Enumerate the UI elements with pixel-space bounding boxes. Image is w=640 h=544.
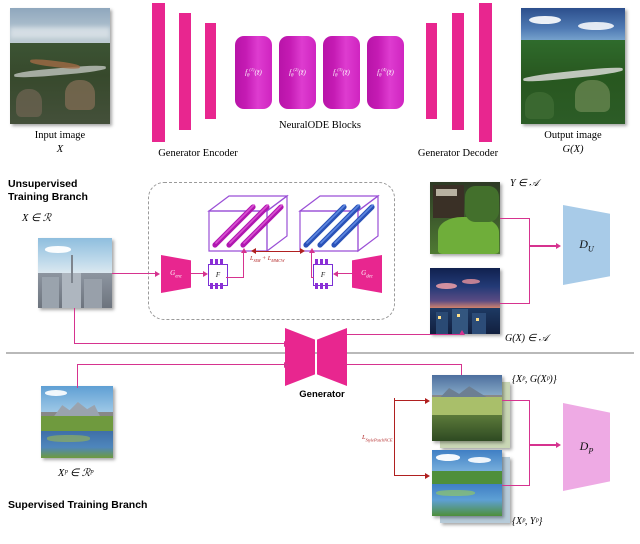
connector-generator-to-pair-h	[344, 364, 462, 365]
connector-supervised-input-h	[77, 364, 286, 365]
input-image-thumbnail	[10, 8, 110, 124]
connector-du-in	[529, 245, 557, 247]
unsupervised-feature-cube-source	[205, 193, 290, 258]
ode-block-4: fθ(4)(z̄)	[367, 36, 404, 109]
stylepatchnce-arm-top	[394, 400, 426, 401]
feature-stripe	[325, 283, 328, 289]
feature-stripe	[210, 283, 213, 289]
similarity-loss-connector	[255, 251, 300, 253]
stylepatchnce-loss-label: LStylePatchNCE	[362, 434, 393, 442]
unsupervised-discriminator-label: D	[579, 237, 588, 251]
connector-arrow-generated	[459, 330, 465, 335]
unsupervised-generated-symbol: G(X) ∈ 𝒜	[505, 333, 548, 344]
similarity-loss-arrow-right	[300, 248, 305, 254]
connector-pairreal-to-dp-h	[502, 485, 530, 486]
output-image-caption: Output image	[544, 130, 601, 141]
ode-block-2-formula: fθ(2)(z̄)	[289, 67, 306, 79]
decoder-caption: Generator Decoder	[418, 148, 498, 159]
unsupervised-discriminator: DU	[563, 205, 610, 285]
unsupervised-feature-box-right-label: F	[321, 271, 325, 279]
connector-arrow-feature-right	[333, 271, 338, 277]
unsupervised-decoder-label: G	[361, 269, 366, 277]
connector-source-down-v	[74, 308, 75, 344]
unsupervised-decoder-sub: dec	[366, 274, 373, 279]
similarity-loss-label: LSIM + LMMCW	[250, 255, 285, 263]
supervised-heading: Supervised Training Branch	[8, 499, 147, 511]
unsupervised-discriminator-sub: U	[588, 244, 594, 253]
connector-dp-in	[529, 444, 557, 446]
loss-mmcw-sub: MMCW	[271, 258, 284, 263]
feature-stripe	[215, 283, 218, 289]
supervised-pair-real-front	[432, 450, 502, 516]
connector-target-to-du-h	[500, 218, 530, 219]
connector-gen-to-du-h	[500, 303, 530, 304]
connector-feature-to-cube-h	[226, 277, 244, 278]
unsupervised-input-symbol: X ∈ ℛ	[22, 212, 51, 224]
supervised-discriminator-label: D	[580, 439, 589, 453]
unsupervised-encoder-trapezoid: Genc	[161, 255, 191, 293]
connector-source-to-generator-h	[74, 343, 286, 344]
connector-arrow-encoder	[155, 271, 160, 277]
unsupervised-generated-thumbnail	[430, 268, 500, 334]
ode-block-4-formula: fθ(4)(z̄)	[377, 67, 394, 79]
stylepatchnce-bracket-v	[394, 398, 395, 476]
connector-du-vertical	[529, 218, 530, 304]
feature-stripe	[315, 259, 318, 265]
feature-stripe	[220, 283, 223, 289]
connector-feature-to-cube-v	[243, 252, 244, 278]
connector-decoder-to-feature	[336, 273, 353, 274]
generator-block-left	[285, 328, 315, 386]
connector-dp-vertical	[529, 400, 530, 486]
feature-stripe	[315, 283, 318, 289]
connector-pairgen-to-dp-h	[502, 400, 530, 401]
connector-arrow-feature-left	[203, 271, 208, 277]
feature-stripe	[325, 259, 328, 265]
unsupervised-target-symbol: Y ∈ 𝒜	[510, 178, 539, 189]
ode-block-2: fθ(2)(z̄)	[279, 36, 316, 109]
supervised-pair-real-label: {Xᵖ, Yᵖ}	[512, 516, 542, 527]
loss-plus: +	[260, 255, 267, 262]
output-image-thumbnail	[521, 8, 625, 124]
stylepatchnce-sub: StylePatchNCE	[366, 437, 393, 442]
input-image-symbol: X	[57, 144, 63, 155]
decoder-bar-1	[426, 23, 437, 119]
feature-stripe	[320, 259, 323, 265]
generator-caption: Generator	[299, 389, 344, 400]
ode-block-1: fθ(1)(z̄)	[235, 36, 272, 109]
feature-stripe	[215, 259, 218, 265]
connector-arrow-cube-left	[241, 248, 247, 253]
generator-block-right	[317, 328, 347, 386]
connector-input-to-encoder	[112, 273, 156, 274]
connector-supervised-input-v	[77, 364, 78, 388]
decoder-bar-2	[452, 13, 464, 130]
encoder-bar-1	[152, 3, 165, 142]
connector-generator-out-h	[344, 334, 462, 335]
stylepatchnce-arrow-bottom	[425, 473, 430, 479]
ode-block-3-formula: fθ(3)(z̄)	[333, 67, 350, 79]
supervised-pair-generated-label: {Xᵖ, G(Xᵖ)}	[512, 374, 557, 385]
ode-blocks-caption: NeuralODE Blocks	[279, 120, 361, 131]
unsupervised-feature-box-left-label: F	[216, 271, 220, 279]
ode-block-3: fθ(3)(z̄)	[323, 36, 360, 109]
unsupervised-target-thumbnail	[430, 182, 500, 254]
encoder-bar-2	[179, 13, 191, 130]
figure-canvas: Input image X Generator Encoder fθ(1)(z̄…	[0, 0, 640, 544]
supervised-input-thumbnail	[41, 386, 113, 458]
connector-arrow-generator-bottom	[284, 362, 289, 368]
feature-stripe	[210, 259, 213, 265]
encoder-bar-3	[205, 23, 216, 119]
unsupervised-encoder-sub: enc	[175, 274, 182, 279]
ode-block-1-formula: fθ(1)(z̄)	[245, 67, 262, 79]
unsupervised-heading-line1: Unsupervised	[8, 178, 77, 190]
unsupervised-decoder-trapezoid: Gdec	[352, 255, 382, 293]
connector-feature-right-to-cube-v	[311, 252, 312, 278]
stylepatchnce-arrow-top	[425, 398, 430, 404]
input-image-caption: Input image	[35, 130, 85, 141]
supervised-pair-generated-front	[432, 375, 502, 441]
unsupervised-input-thumbnail	[38, 238, 112, 308]
supervised-discriminator-sub: P	[588, 446, 593, 455]
unsupervised-heading-line2: Training Branch	[8, 191, 88, 203]
output-image-symbol: G(X)	[563, 144, 584, 155]
stylepatchnce-bracket-bottom	[394, 475, 426, 476]
connector-arrow-cube-right	[309, 248, 315, 253]
feature-stripe	[320, 283, 323, 289]
encoder-caption: Generator Encoder	[158, 148, 238, 159]
unsupervised-encoder-label: G	[170, 269, 175, 277]
similarity-loss-arrow-left	[251, 248, 256, 254]
connector-arrow-du	[556, 243, 561, 249]
feature-stripe	[220, 259, 223, 265]
supervised-discriminator: DP	[563, 403, 610, 491]
decoder-bar-3	[479, 3, 492, 142]
supervised-input-symbol: Xᵖ ∈ ℛᵖ	[58, 467, 93, 479]
connector-arrow-dp	[556, 442, 561, 448]
